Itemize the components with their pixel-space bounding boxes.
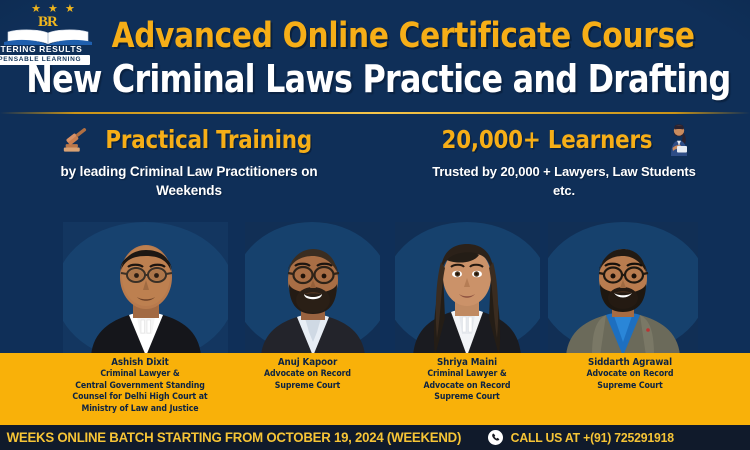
speaker-photo-anuj-kapoor bbox=[245, 222, 380, 356]
speaker-title-line: Advocate on Record bbox=[424, 381, 511, 391]
feature-heading-row: Practical Training bbox=[0, 118, 378, 160]
footer-bar: WEEKS ONLINE BATCH STARTING FROM OCTOBER… bbox=[0, 425, 750, 450]
feature-heading-row: 20,000+ Learners bbox=[378, 118, 750, 160]
gavel-icon bbox=[61, 124, 91, 154]
speaker-name: Anuj Kapoor bbox=[218, 357, 397, 369]
speaker-title-line: Advocate on Record bbox=[587, 369, 674, 379]
header-divider bbox=[0, 112, 750, 114]
call-us-group[interactable]: CALL US AT +(91) 725291918 bbox=[488, 430, 676, 445]
speaker-title-line: Supreme Court bbox=[597, 381, 662, 391]
feature-subtext: Trusted by 20,000 + Lawyers, Law Student… bbox=[378, 160, 750, 200]
speaker-caption-shriya-maini: Shriya Maini Criminal Lawyer & Advocate … bbox=[375, 357, 559, 404]
feature-learners: 20,000+ Learners Trusted by 20,000 + Law… bbox=[378, 118, 750, 200]
learner-icon bbox=[666, 122, 692, 156]
speaker-photo-ashish-dixit bbox=[63, 222, 228, 356]
speaker-name: Shriya Maini bbox=[375, 357, 559, 369]
speaker-caption-siddarth-agrawal: Siddarth Agrawal Advocate on Record Supr… bbox=[538, 357, 722, 392]
speaker-photo-siddarth-agrawal bbox=[548, 222, 698, 356]
course-title-secondary: New Criminal Laws Practice and Drafting bbox=[26, 58, 724, 100]
feature-strip: Practical Training by leading Criminal L… bbox=[0, 118, 750, 223]
speaker-title-line: Criminal Lawyer & bbox=[427, 369, 506, 379]
speaker-photo-row bbox=[0, 222, 750, 356]
speaker-title-line: Advocate on Record bbox=[264, 369, 351, 379]
speaker-caption-anuj-kapoor: Anuj Kapoor Advocate on Record Supreme C… bbox=[218, 357, 397, 392]
speaker-name-bar: Ashish Dixit Criminal Lawyer & Central G… bbox=[0, 353, 750, 425]
feature-practical-training: Practical Training by leading Criminal L… bbox=[0, 118, 378, 200]
banner-header: ★ ★ ★ BR ...TERING RESULTS ...PENSABLE L… bbox=[0, 0, 750, 112]
course-title-primary: Advanced Online Certificate Course bbox=[23, 17, 728, 55]
call-us-text: CALL US AT +(91) 725291918 bbox=[510, 431, 673, 445]
feature-heading: Practical Training bbox=[105, 125, 312, 154]
speaker-title-line: Counsel for Delhi High Court at bbox=[72, 392, 207, 402]
feature-heading: 20,000+ Learners bbox=[441, 125, 652, 154]
speaker-title-line: Criminal Lawyer & bbox=[100, 369, 179, 379]
speaker-title-line: Ministry of Law and Justice bbox=[81, 404, 198, 414]
speaker-title-line: Supreme Court bbox=[275, 381, 340, 391]
feature-subtext: by leading Criminal Law Practitioners on… bbox=[0, 160, 378, 200]
speaker-photo-shriya-maini bbox=[395, 222, 540, 356]
promo-banner: ★ ★ ★ BR ...TERING RESULTS ...PENSABLE L… bbox=[0, 0, 750, 450]
phone-icon bbox=[488, 430, 503, 445]
speaker-title-line: Supreme Court bbox=[434, 392, 499, 402]
speaker-name: Siddarth Agrawal bbox=[538, 357, 722, 369]
speaker-title-line: Central Government Standing bbox=[75, 381, 205, 391]
batch-start-text: WEEKS ONLINE BATCH STARTING FROM OCTOBER… bbox=[7, 430, 462, 445]
